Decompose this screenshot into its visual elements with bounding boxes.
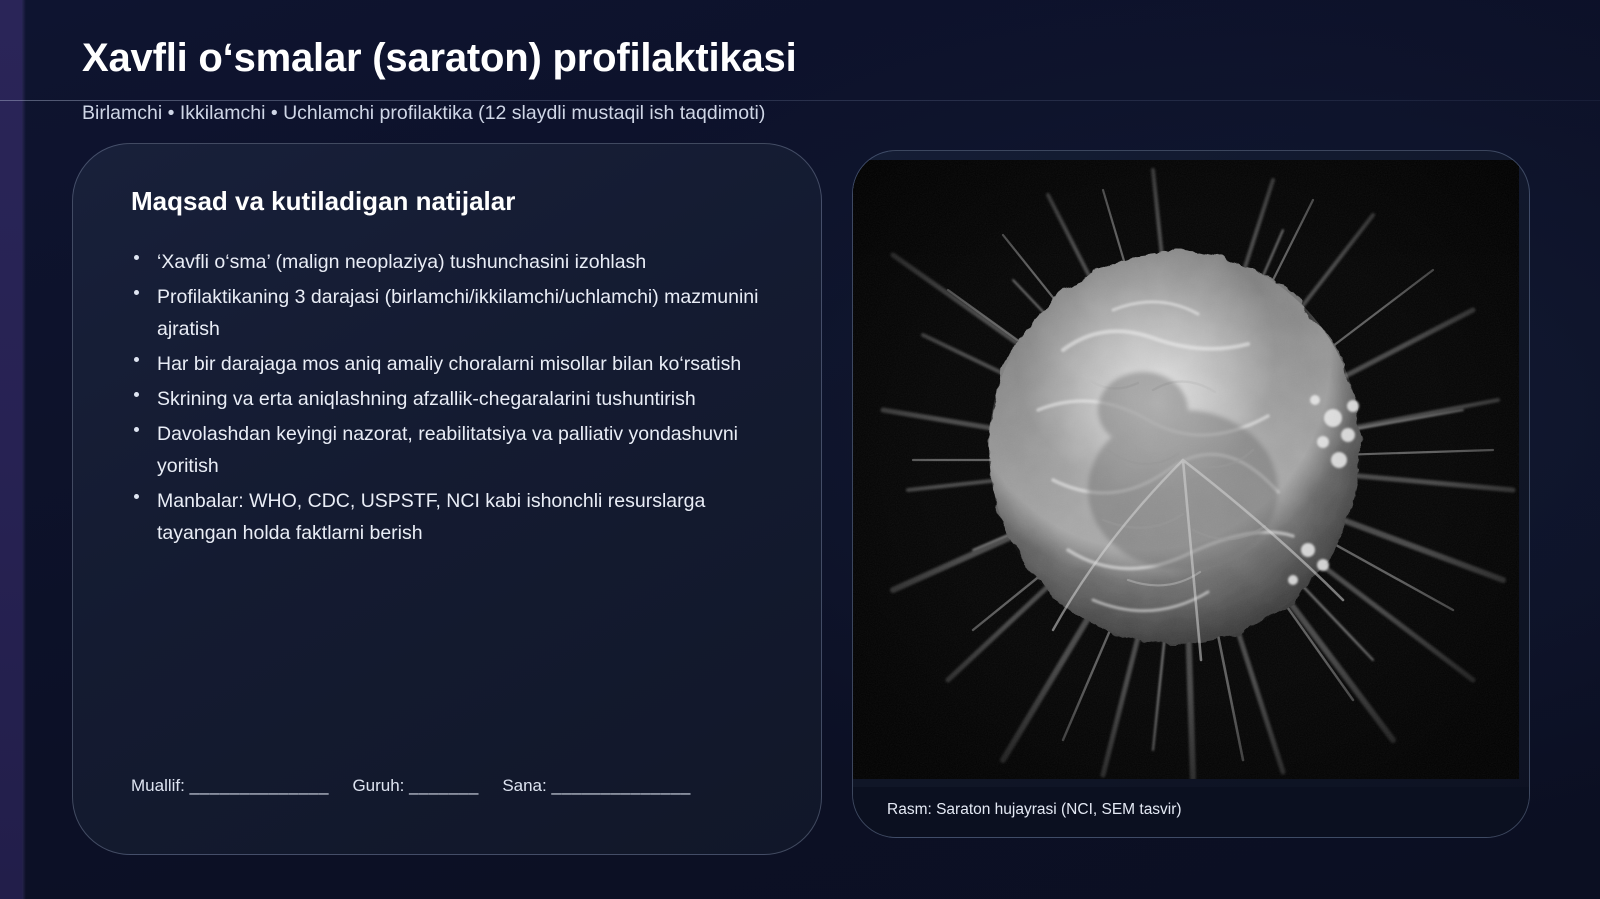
left-accent-strip [0, 0, 22, 899]
presentation-slide: Xavfli o‘smalar (saraton) profilaktikasi… [0, 0, 1600, 899]
list-item-text: Davolashdan keyingi nazorat, reabilitats… [157, 423, 738, 477]
slide-header: Xavfli o‘smalar (saraton) profilaktikasi… [0, 0, 1600, 101]
objectives-card: Maqsad va kutiladigan natijalar ‘Xavfli … [72, 143, 822, 855]
page-title: Xavfli o‘smalar (saraton) profilaktikasi [82, 36, 796, 81]
bullet-dot-icon [134, 357, 139, 362]
list-item: Profilaktikaning 3 darajasi (birlamchi/i… [129, 281, 789, 345]
list-item-text: Manbalar: WHO, CDC, USPSTF, NCI kabi ish… [157, 490, 705, 544]
author-blank-field[interactable]: ______________ [190, 776, 329, 795]
list-item: Davolashdan keyingi nazorat, reabilitats… [129, 418, 789, 482]
photo-panel: Rasm: Saraton hujayrasi (NCI, SEM tasvir… [852, 150, 1530, 838]
bullet-dot-icon [134, 494, 139, 499]
objectives-list: ‘Xavfli o‘sma’ (malign neoplaziya) tushu… [129, 246, 789, 552]
header-divider [0, 100, 1600, 101]
caption-band: Rasm: Saraton hujayrasi (NCI, SEM tasvir… [853, 787, 1530, 838]
group-label: Guruh: [352, 776, 404, 795]
author-meta-line: Muallif: ______________ Guruh: _______ S… [131, 776, 691, 796]
list-item-text: Profilaktikaning 3 darajasi (birlamchi/i… [157, 286, 758, 340]
left-accent-edge [22, 0, 26, 899]
list-item: Har bir darajaga mos aniq amaliy chorala… [129, 348, 789, 380]
page-subtitle: Birlamchi • Ikkilamchi • Uchlamchi profi… [82, 102, 765, 125]
list-item-text: ‘Xavfli o‘sma’ (malign neoplaziya) tushu… [157, 251, 646, 273]
list-item-text: Skrining va erta aniqlashning afzallik-c… [157, 388, 696, 410]
bullet-dot-icon [134, 255, 139, 260]
date-label: Sana: [502, 776, 546, 795]
author-label: Muallif: [131, 776, 185, 795]
card-heading: Maqsad va kutiladigan natijalar [131, 186, 515, 217]
bullet-dot-icon [134, 392, 139, 397]
bullet-dot-icon [134, 290, 139, 295]
cancer-cell-image [853, 160, 1519, 779]
bullet-dot-icon [134, 427, 139, 432]
list-item: ‘Xavfli o‘sma’ (malign neoplaziya) tushu… [129, 246, 789, 278]
image-caption: Rasm: Saraton hujayrasi (NCI, SEM tasvir… [887, 801, 1182, 819]
list-item: Manbalar: WHO, CDC, USPSTF, NCI kabi ish… [129, 485, 789, 549]
list-item-text: Har bir darajaga mos aniq amaliy chorala… [157, 353, 741, 375]
group-blank-field[interactable]: _______ [409, 776, 479, 795]
date-blank-field[interactable]: ______________ [551, 776, 690, 795]
list-item: Skrining va erta aniqlashning afzallik-c… [129, 383, 789, 415]
